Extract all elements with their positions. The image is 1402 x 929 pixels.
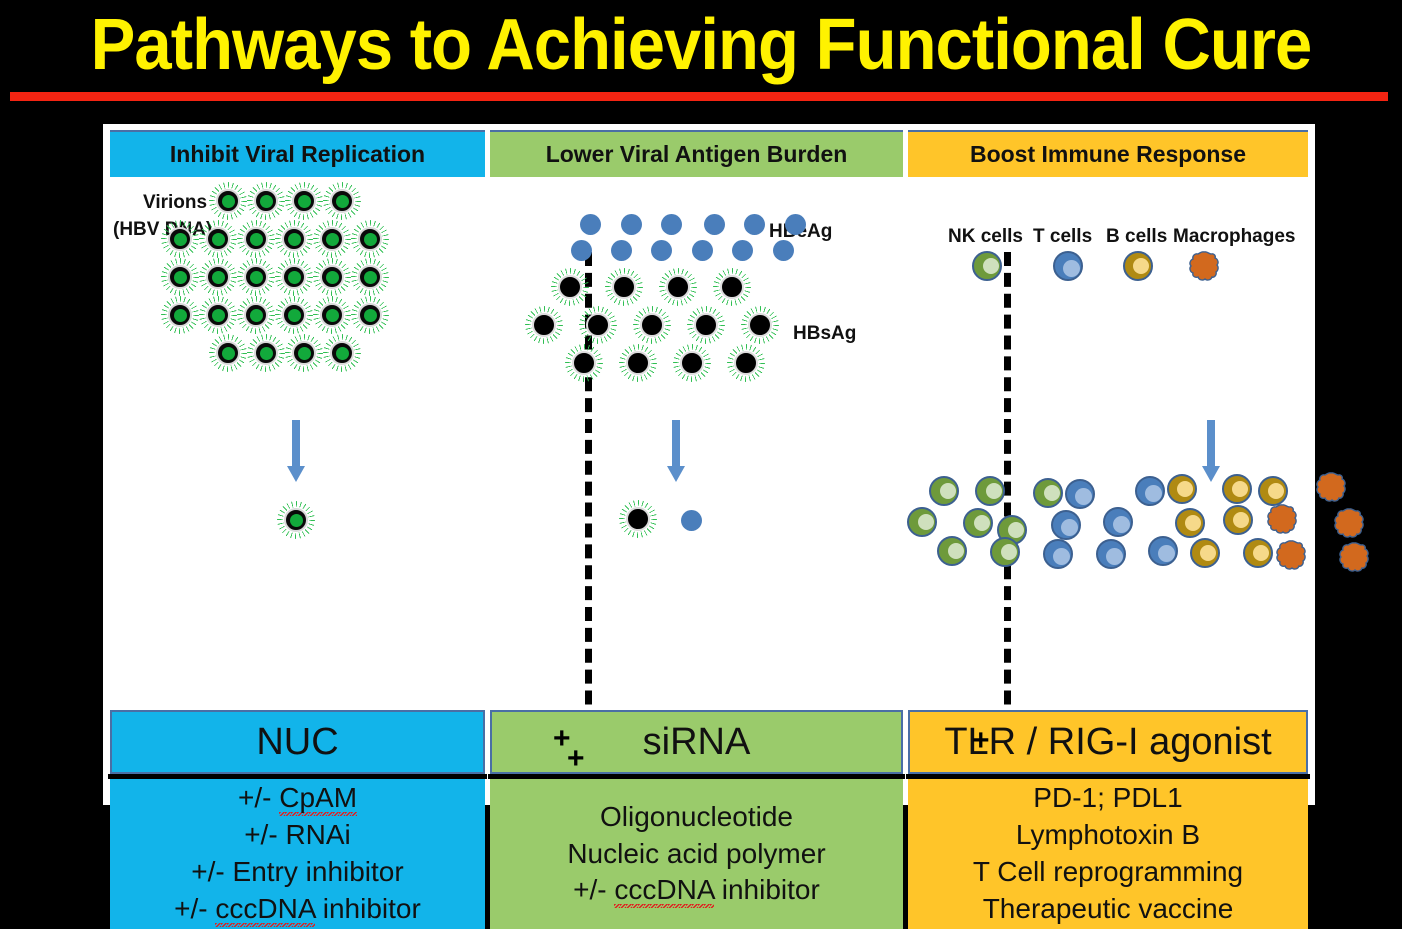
spellcheck-underline: CpAM bbox=[279, 782, 357, 816]
virion-particle bbox=[317, 224, 347, 254]
virion-particle bbox=[241, 262, 271, 292]
detail-line: +/- cccDNA inhibitor bbox=[174, 891, 421, 928]
detail-line: Therapeutic vaccine bbox=[983, 891, 1234, 928]
label-virions: Virions bbox=[143, 192, 207, 214]
detail-line: +/- RNAi bbox=[244, 817, 351, 854]
hbsag-particle bbox=[623, 348, 653, 378]
b-cell bbox=[1175, 508, 1205, 538]
nk-cell bbox=[937, 536, 967, 566]
detail-block-lower-viral-antigen-burden: OligonucleotideNucleic acid polymer+/- c… bbox=[490, 779, 903, 929]
legend-cell-macrophage bbox=[1188, 251, 1220, 281]
hbeag-dot bbox=[580, 214, 601, 235]
down-arrow-column-2 bbox=[667, 420, 685, 482]
spellcheck-underline: cccDNA bbox=[215, 893, 315, 927]
virion-particle bbox=[317, 300, 347, 330]
b-cell bbox=[1243, 538, 1273, 568]
legend-cell-t bbox=[1053, 251, 1083, 281]
virion-particle bbox=[165, 224, 195, 254]
detail-line: PD-1; PDL1 bbox=[1033, 780, 1182, 817]
hbsag-particle bbox=[637, 310, 667, 340]
t-cell bbox=[1043, 539, 1073, 569]
macrophage-cell bbox=[1315, 472, 1347, 502]
hbeag-dot bbox=[785, 214, 806, 235]
hbsag-particle bbox=[745, 310, 775, 340]
virion-particle bbox=[289, 186, 319, 216]
hbeag-dot bbox=[651, 240, 672, 261]
nk-cell bbox=[990, 537, 1020, 567]
virion-particle bbox=[251, 186, 281, 216]
virion-particle bbox=[355, 262, 385, 292]
virion-particle bbox=[279, 224, 309, 254]
treatment-bar-tlr-rig-i-agonist[interactable]: TLR / RIG-I agonist bbox=[908, 710, 1308, 774]
hbsag-particle bbox=[569, 348, 599, 378]
t-cell bbox=[1051, 510, 1081, 540]
b-cell bbox=[1167, 474, 1197, 504]
virion-particle bbox=[251, 338, 281, 368]
column-header-boost-immune-response[interactable]: Boost Immune Response bbox=[908, 130, 1308, 177]
virion-particle bbox=[241, 224, 271, 254]
t-cell bbox=[1103, 507, 1133, 537]
virion-particle bbox=[327, 186, 357, 216]
macrophage-cell bbox=[1333, 508, 1365, 538]
b-cell bbox=[1258, 476, 1288, 506]
detail-line: +/- cccDNA inhibitor bbox=[573, 872, 820, 909]
nk-cell bbox=[975, 476, 1005, 506]
virion-particle bbox=[355, 300, 385, 330]
hbsag-particle bbox=[717, 272, 747, 302]
virion-particle bbox=[355, 224, 385, 254]
t-cell bbox=[1148, 536, 1178, 566]
virion-particle bbox=[203, 300, 233, 330]
hbsag-particle bbox=[731, 348, 761, 378]
hbsag-particle bbox=[663, 272, 693, 302]
virion-particle bbox=[241, 300, 271, 330]
b-cell bbox=[1190, 538, 1220, 568]
detail-line: +/- CpAM bbox=[238, 780, 357, 817]
label-hbsag: HBsAg bbox=[793, 323, 856, 345]
hbeag-dot bbox=[681, 510, 702, 531]
page-title: Pathways to Achieving Functional Cure bbox=[49, 6, 1353, 86]
column-header-lower-viral-antigen-burden[interactable]: Lower Viral Antigen Burden bbox=[490, 130, 903, 177]
macrophage-cell bbox=[1266, 504, 1298, 534]
legend-label-b-cells: B cells bbox=[1106, 226, 1167, 248]
nk-cell bbox=[929, 476, 959, 506]
detail-line: Nucleic acid polymer bbox=[567, 836, 825, 873]
t-cell bbox=[1065, 479, 1095, 509]
plus-operator-2: + bbox=[567, 744, 585, 774]
slide-root: Pathways to Achieving Functional Cure In… bbox=[0, 0, 1402, 820]
down-arrow-column-3 bbox=[1202, 420, 1220, 482]
hbeag-dot bbox=[744, 214, 765, 235]
treatment-bar-sirna[interactable]: siRNA bbox=[490, 710, 903, 774]
virion-particle bbox=[279, 300, 309, 330]
hbsag-particle bbox=[555, 272, 585, 302]
virion-particle bbox=[279, 262, 309, 292]
virion-particle bbox=[289, 338, 319, 368]
virion-particle bbox=[165, 262, 195, 292]
treatment-bar-nuc[interactable]: NUC bbox=[110, 710, 485, 774]
column-header-inhibit-viral-replication[interactable]: Inhibit Viral Replication bbox=[110, 130, 485, 177]
nk-cell bbox=[1033, 478, 1063, 508]
hbeag-dot bbox=[661, 214, 682, 235]
legend-label-t-cells: T cells bbox=[1033, 226, 1092, 248]
virion-particle bbox=[213, 186, 243, 216]
t-cell bbox=[1135, 476, 1165, 506]
nk-cell bbox=[963, 508, 993, 538]
detail-line: Oligonucleotide bbox=[600, 799, 793, 836]
down-arrow-column-1 bbox=[287, 420, 305, 482]
hbeag-dot bbox=[773, 240, 794, 261]
hbeag-dot bbox=[732, 240, 753, 261]
hbsag-particle bbox=[583, 310, 613, 340]
virion-particle bbox=[281, 505, 311, 535]
detail-line: Lymphotoxin B bbox=[1016, 817, 1200, 854]
t-cell bbox=[1096, 539, 1126, 569]
detail-block-boost-immune-response: PD-1; PDL1Lymphotoxin BT Cell reprogramm… bbox=[908, 779, 1308, 929]
spellcheck-underline: cccDNA bbox=[614, 874, 714, 908]
plus-operator-3: + bbox=[972, 726, 990, 756]
b-cell bbox=[1223, 505, 1253, 535]
nk-cell bbox=[907, 507, 937, 537]
hbsag-particle bbox=[691, 310, 721, 340]
macrophage-cell bbox=[1275, 540, 1307, 570]
virion-particle bbox=[165, 300, 195, 330]
hbeag-dot bbox=[571, 240, 592, 261]
hbeag-dot bbox=[692, 240, 713, 261]
hbsag-particle bbox=[609, 272, 639, 302]
macrophage-cell bbox=[1338, 542, 1370, 572]
title-underline-rule bbox=[10, 92, 1388, 101]
detail-line: +/- Entry inhibitor bbox=[191, 854, 403, 891]
virion-particle bbox=[203, 224, 233, 254]
hbsag-particle bbox=[623, 504, 653, 534]
hbeag-dot bbox=[704, 214, 725, 235]
virion-particle bbox=[203, 262, 233, 292]
b-cell bbox=[1222, 474, 1252, 504]
legend-cell-b bbox=[1123, 251, 1153, 281]
virion-particle bbox=[213, 338, 243, 368]
hbsag-particle bbox=[677, 348, 707, 378]
legend-label-nk-cells: NK cells bbox=[948, 226, 1023, 248]
virion-particle bbox=[317, 262, 347, 292]
diagram-board: Inhibit Viral Replication Lower Viral An… bbox=[103, 124, 1315, 805]
hbsag-particle bbox=[529, 310, 559, 340]
detail-line: T Cell reprogramming bbox=[973, 854, 1243, 891]
hbeag-dot bbox=[611, 240, 632, 261]
legend-label-macrophages: Macrophages bbox=[1173, 226, 1295, 248]
legend-cell-nk bbox=[972, 251, 1002, 281]
detail-block-inhibit-viral-replication: +/- CpAM+/- RNAi+/- Entry inhibitor+/- c… bbox=[110, 779, 485, 929]
hbeag-dot bbox=[621, 214, 642, 235]
virion-particle bbox=[327, 338, 357, 368]
